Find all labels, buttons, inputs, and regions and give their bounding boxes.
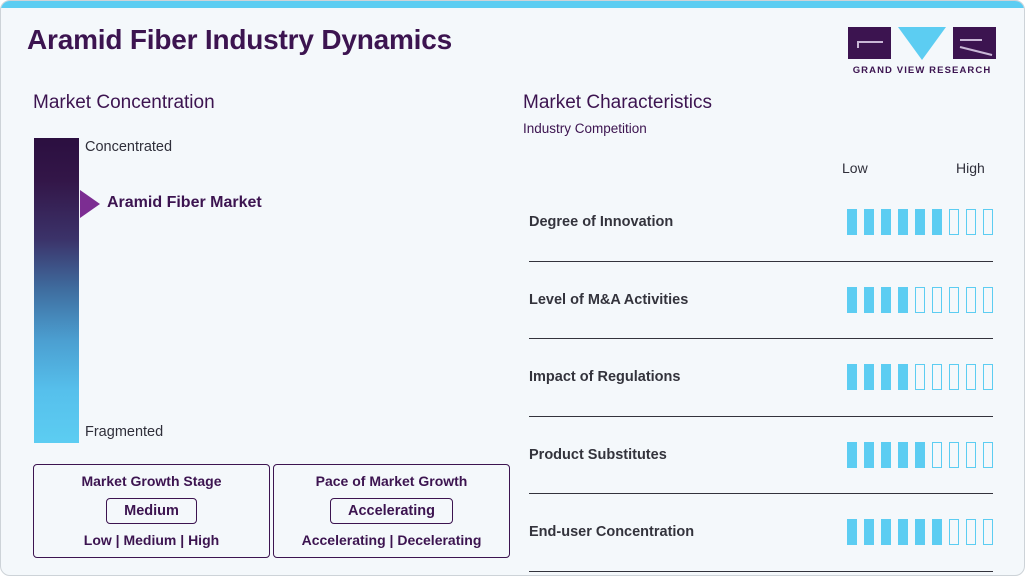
rating-bar-group (847, 364, 993, 390)
characteristic-label: Impact of Regulations (529, 369, 680, 385)
concentration-gradient-bar (34, 138, 79, 443)
rating-segment-filled (881, 519, 891, 545)
scale-high-label: High (956, 160, 985, 176)
market-concentration-heading: Market Concentration (33, 92, 215, 114)
characteristic-row: End-user Concentration (529, 494, 993, 572)
infographic-card: Aramid Fiber Industry Dynamics GRAND VIE… (0, 0, 1025, 576)
rating-segment-filled (898, 287, 908, 313)
pace-of-market-growth-card: Pace of Market Growth Accelerating Accel… (273, 464, 510, 558)
rating-segment-empty (932, 364, 942, 390)
rating-segment-empty (949, 442, 959, 468)
rating-bar-group (847, 442, 993, 468)
rating-segment-empty (949, 287, 959, 313)
logo-text: GRAND VIEW RESEARCH (848, 65, 996, 76)
rating-segment-empty (966, 287, 976, 313)
rating-segment-empty (983, 287, 993, 313)
rating-segment-empty (983, 519, 993, 545)
rating-segment-filled (881, 442, 891, 468)
logo-right-rect-icon (953, 27, 996, 59)
scale-low-label: Low (842, 160, 868, 176)
rating-segment-filled (932, 209, 942, 235)
rating-segment-filled (881, 287, 891, 313)
rating-segment-empty (966, 442, 976, 468)
rating-bar-group (847, 209, 993, 235)
rating-segment-empty (949, 364, 959, 390)
characteristic-row: Level of M&A Activities (529, 262, 993, 340)
rating-segment-filled (864, 442, 874, 468)
characteristic-label: End-user Concentration (529, 524, 694, 540)
rating-segment-filled (847, 442, 857, 468)
characteristic-row: Impact of Regulations (529, 339, 993, 417)
rating-segment-empty (966, 519, 976, 545)
rating-segment-filled (915, 519, 925, 545)
rating-segment-filled (898, 442, 908, 468)
rating-segment-empty (949, 519, 959, 545)
rating-segment-filled (864, 209, 874, 235)
pace-of-market-growth-value: Accelerating (330, 498, 453, 524)
rating-segment-filled (915, 209, 925, 235)
rating-segment-empty (983, 209, 993, 235)
rating-segment-empty (915, 364, 925, 390)
pace-of-market-growth-scale: Accelerating | Decelerating (302, 532, 482, 548)
rating-segment-filled (847, 287, 857, 313)
rating-segment-empty (932, 287, 942, 313)
page-title: Aramid Fiber Industry Dynamics (27, 24, 452, 56)
rating-segment-filled (898, 209, 908, 235)
characteristic-label: Product Substitutes (529, 447, 667, 463)
market-growth-stage-value: Medium (106, 498, 197, 524)
rating-segment-filled (864, 364, 874, 390)
market-growth-stage-title: Market Growth Stage (81, 473, 221, 489)
rating-segment-filled (864, 287, 874, 313)
market-characteristics-subheading: Industry Competition (523, 121, 647, 136)
rating-segment-empty (932, 442, 942, 468)
market-characteristics-heading: Market Characteristics (523, 92, 712, 114)
rating-segment-empty (983, 442, 993, 468)
rating-segment-empty (966, 209, 976, 235)
market-position-label: Aramid Fiber Market (107, 194, 262, 212)
market-growth-stage-scale: Low | Medium | High (84, 532, 219, 548)
rating-bar-group (847, 287, 993, 313)
pace-of-market-growth-title: Pace of Market Growth (316, 473, 468, 489)
characteristic-label: Degree of Innovation (529, 214, 673, 230)
rating-segment-filled (932, 519, 942, 545)
rating-segment-filled (847, 209, 857, 235)
rating-segment-filled (898, 519, 908, 545)
rating-segment-filled (881, 209, 891, 235)
rating-segment-empty (915, 287, 925, 313)
rating-bar-group (847, 519, 993, 545)
logo-left-rect-icon (848, 27, 891, 59)
logo-marks (848, 27, 996, 59)
rating-segment-empty (966, 364, 976, 390)
rating-segment-filled (847, 519, 857, 545)
brand-logo: GRAND VIEW RESEARCH (848, 27, 996, 76)
rating-segment-filled (864, 519, 874, 545)
gradient-bottom-label: Fragmented (85, 424, 163, 440)
characteristic-label: Level of M&A Activities (529, 292, 688, 308)
rating-segment-filled (881, 364, 891, 390)
market-position-marker-icon (80, 190, 100, 218)
rating-segment-filled (847, 364, 857, 390)
market-growth-stage-card: Market Growth Stage Medium Low | Medium … (33, 464, 270, 558)
characteristic-row: Degree of Innovation (529, 184, 993, 262)
characteristics-rows: Degree of InnovationLevel of M&A Activit… (529, 184, 993, 572)
logo-triangle-icon (898, 27, 946, 60)
gradient-top-label: Concentrated (85, 139, 172, 155)
rating-segment-empty (983, 364, 993, 390)
rating-segment-empty (949, 209, 959, 235)
characteristic-row: Product Substitutes (529, 417, 993, 495)
rating-segment-filled (915, 442, 925, 468)
top-accent-bar (1, 1, 1024, 8)
rating-segment-filled (898, 364, 908, 390)
